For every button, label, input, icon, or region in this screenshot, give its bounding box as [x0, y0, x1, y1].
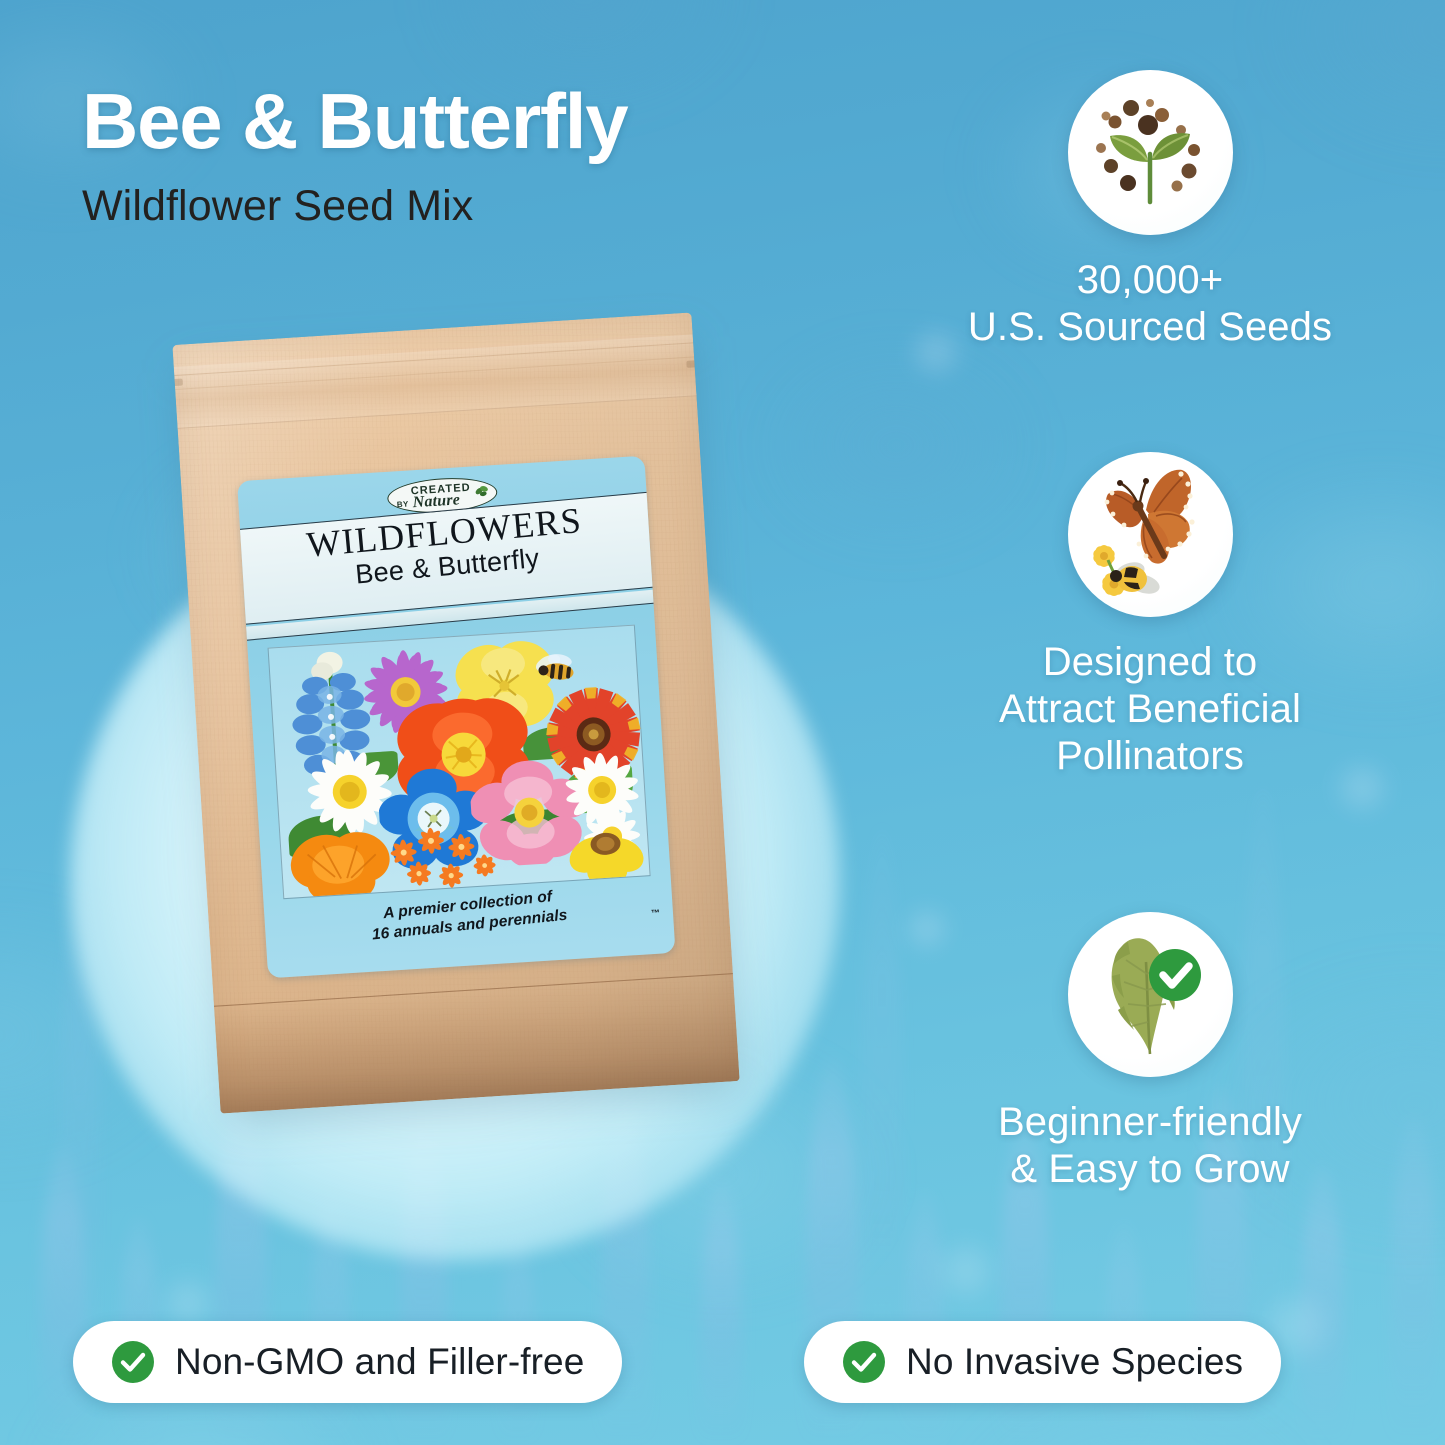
- leaf-check-icon: [1068, 912, 1233, 1077]
- seed-packet-product-image: CREATED BY Nature WILDFLOWERS Bee & Butt…: [172, 312, 739, 1113]
- feature-seeds: 30,000+ U.S. Sourced Seeds: [900, 70, 1400, 351]
- feature-easy-line-2: & Easy to Grow: [900, 1146, 1400, 1193]
- feature-pollinators-line-2: Attract Beneficial: [900, 686, 1400, 733]
- kraft-paper-pouch: CREATED BY Nature WILDFLOWERS Bee & Butt…: [172, 312, 739, 1113]
- packet-label: CREATED BY Nature WILDFLOWERS Bee & Butt…: [237, 456, 675, 979]
- badge-no-invasive-label: No Invasive Species: [906, 1341, 1243, 1383]
- feature-easy-to-grow: Beginner-friendly & Easy to Grow: [900, 912, 1400, 1193]
- feature-easy-line-1: Beginner-friendly: [900, 1099, 1400, 1146]
- feature-pollinators-text: Designed to Attract Beneficial Pollinato…: [900, 639, 1400, 781]
- logo-leaf-icon: [474, 482, 491, 504]
- seed-sprout-icon: [1068, 70, 1233, 235]
- page-subtitle: Wildflower Seed Mix: [82, 182, 627, 231]
- trademark-symbol: ™: [651, 908, 661, 919]
- wildflower-photo-collage: [268, 625, 651, 900]
- feature-easy-to-grow-text: Beginner-friendly & Easy to Grow: [900, 1099, 1400, 1193]
- check-circle-icon: [842, 1340, 886, 1384]
- tear-notch-left: [172, 379, 182, 387]
- feature-pollinators-line-1: Designed to: [900, 639, 1400, 686]
- badge-non-gmo[interactable]: Non-GMO and Filler-free: [73, 1321, 622, 1403]
- feature-pollinators-line-3: Pollinators: [900, 733, 1400, 780]
- headline-block: Bee & Butterfly Wildflower Seed Mix: [82, 82, 627, 231]
- flower-orange-milkweed: [378, 820, 511, 899]
- badge-no-invasive-species[interactable]: No Invasive Species: [804, 1321, 1281, 1403]
- monarch-butterfly: [1104, 470, 1194, 564]
- badge-non-gmo-label: Non-GMO and Filler-free: [175, 1341, 584, 1383]
- feature-seeds-line-2: U.S. Sourced Seeds: [900, 304, 1400, 351]
- check-circle-icon: [111, 1340, 155, 1384]
- butterfly-bee-flower-icon: [1068, 452, 1233, 617]
- feature-pollinators: Designed to Attract Beneficial Pollinato…: [900, 452, 1400, 781]
- feature-seeds-text: 30,000+ U.S. Sourced Seeds: [900, 257, 1400, 351]
- logo-by-text: BY: [397, 500, 409, 510]
- page-title: Bee & Butterfly: [82, 82, 627, 160]
- feature-seeds-line-1: 30,000+: [900, 257, 1400, 304]
